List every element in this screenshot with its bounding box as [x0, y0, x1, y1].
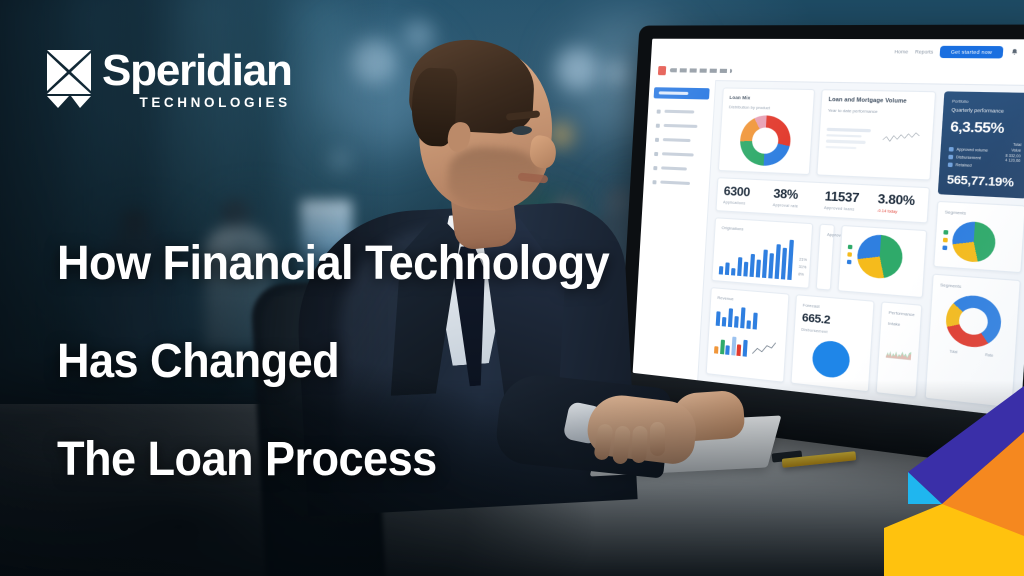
- revenue-trend-line: [751, 339, 775, 360]
- donut-note-1: Total: [949, 349, 957, 354]
- kpi-value: 38%: [773, 187, 814, 202]
- sidebar-item-label: [663, 138, 691, 142]
- sidebar-item-reports[interactable]: [649, 163, 705, 175]
- kpi-delta: -0.14 today: [877, 209, 921, 216]
- portfolio-subtitle: Quarterly performance: [951, 107, 1023, 114]
- list-icon: [656, 123, 660, 127]
- list-icon: [653, 166, 657, 170]
- segments-pie-card: [838, 225, 928, 298]
- donut-note-2: Rate: [985, 353, 993, 358]
- portfolio-summary-panel: Portfolio Quarterly performance 6,3.55% …: [938, 91, 1024, 198]
- sidebar-item-settings[interactable]: [648, 177, 704, 189]
- loan-volume-title: Loan and Mortgage Volume: [828, 97, 927, 106]
- performance-area-chart: [884, 328, 912, 380]
- topbar-link-reports[interactable]: Reports: [915, 48, 934, 54]
- kpi-label: Approved loans: [824, 206, 866, 213]
- loan-volume-ticks: [826, 128, 878, 150]
- kpi-value: 11537: [824, 190, 867, 205]
- loan-mix-title: Loan Mix: [729, 95, 807, 102]
- dashboard-body: Loan Mix Distribution by product Loan an…: [633, 79, 1024, 417]
- headline-line-2: Has Changed: [57, 338, 609, 387]
- sidebar-item-label: [660, 181, 690, 186]
- legend-item: 31%: [799, 265, 807, 270]
- originations-title: Originations: [721, 225, 805, 236]
- segments-right-pie: [951, 221, 997, 264]
- corner-geometric-graphic: [884, 386, 1024, 576]
- dashboard-main-column: Loan Mix Distribution by product Loan an…: [698, 80, 945, 406]
- segments-donut-title: Segments: [940, 282, 1012, 293]
- kpi-default-rate: 3.80% -0.14 today: [877, 192, 922, 215]
- forecast-pie-chart: [811, 339, 850, 379]
- speridian-wordmark: Speridian TECHNOLOGIES: [102, 49, 292, 110]
- kpi-label: Approval rate: [773, 203, 814, 209]
- legend-item: 8%: [798, 272, 806, 277]
- approvals-line-chart: [824, 242, 826, 278]
- segments-pie-chart: [856, 234, 904, 280]
- loan-mix-card: Loan Mix Distribution by product: [718, 87, 815, 175]
- performance-title: Performance: [888, 310, 913, 318]
- loan-volume-subtitle: Year to date performance: [828, 107, 927, 115]
- loan-mix-subtitle: Distribution by product: [729, 104, 807, 111]
- headline-line-1: How Financial Technology: [57, 240, 609, 289]
- list-icon: [655, 137, 659, 141]
- finger: [631, 426, 648, 464]
- kpi-applications: 6300 Applications: [723, 185, 763, 207]
- loan-volume-card: Loan and Mortgage Volume Year to date pe…: [816, 89, 936, 180]
- portfolio-eyebrow: Portfolio: [952, 99, 1024, 105]
- brand-tagline: TECHNOLOGIES: [139, 96, 290, 110]
- sidebar-item-label: [662, 152, 694, 156]
- originations-legend: 21% 31% 8%: [798, 257, 807, 281]
- legend-label: Retained: [955, 163, 971, 168]
- speridian-logo[interactable]: Speridian TECHNOLOGIES: [44, 48, 292, 110]
- sidebar-item-portfolio[interactable]: [651, 135, 707, 146]
- sidebar-item-label: [664, 124, 698, 128]
- kpi-label: Applications: [723, 200, 762, 206]
- legend-label: Disbursement: [956, 155, 981, 160]
- segments-donut-chart: [944, 294, 1002, 350]
- get-started-button[interactable]: Get started now: [940, 45, 1004, 58]
- legend-label: Approved volume: [956, 147, 988, 153]
- list-icon: [652, 180, 656, 184]
- originations-bar-chart: [719, 235, 794, 280]
- brand-name: Speridian: [102, 49, 292, 93]
- sidebar-item-label: [661, 166, 687, 170]
- topbar-link-home[interactable]: Home: [894, 48, 908, 54]
- kpi-value: 6300: [723, 185, 763, 199]
- segments-right-card: Segments: [933, 201, 1024, 273]
- loan-volume-area-chart: [924, 121, 926, 152]
- legend-item: 21%: [799, 257, 807, 262]
- sidebar-item-dashboard[interactable]: [654, 87, 710, 99]
- headline-line-3: The Loan Process: [57, 436, 609, 485]
- list-icon: [657, 109, 661, 113]
- portfolio-legend: Approved volume Disbursement Retained: [948, 147, 988, 169]
- forecast-title: Forecast: [803, 302, 867, 313]
- page-title: How Financial Technology Has Changed The…: [57, 191, 609, 534]
- bell-icon[interactable]: [1010, 48, 1019, 56]
- portfolio-secondary-value: 565,77.19%: [946, 174, 1019, 191]
- revenue-secondary-bars: [714, 331, 748, 357]
- dashboard-brand-label: [670, 68, 732, 73]
- segments-right-title: Segments: [945, 209, 1017, 219]
- revenue-bar-chart: [716, 305, 781, 332]
- sidebar-item-overview[interactable]: [653, 106, 709, 117]
- kpi-strip: 6300 Applications 38% Approval rate 1153…: [715, 177, 930, 223]
- sidebar-item-analytics[interactable]: [650, 149, 706, 160]
- sidebar-item-label: [664, 110, 694, 114]
- performance-subtitle: Intake: [888, 320, 913, 328]
- portfolio-main-value: 6,3.55%: [950, 118, 1023, 137]
- approvals-sparkline: [882, 124, 920, 151]
- revenue-title: Revenue: [717, 295, 781, 306]
- loan-mix-donut-chart: [739, 115, 792, 167]
- speridian-hourglass-mark: [44, 48, 94, 110]
- performance-card: Performance Intake: [876, 301, 923, 397]
- finger: [650, 422, 665, 456]
- hero-banner: Home Reports Get started now: [0, 0, 1024, 576]
- dashboard-logo-icon: [658, 66, 666, 75]
- kpi-value: 3.80%: [877, 192, 921, 207]
- sidebar-item-applications[interactable]: [652, 121, 708, 132]
- monitor-screen: Home Reports Get started now: [633, 39, 1024, 418]
- forecast-card: Forecast 665.2 Disbursement: [790, 294, 874, 392]
- revenue-card: Revenue: [706, 287, 790, 383]
- kpi-approved-loans: 11537 Approved loans: [824, 190, 867, 213]
- segments-right-legend: [942, 230, 948, 250]
- portfolio-note-4: 4 120,66: [1005, 158, 1021, 164]
- approvals-card: Approvals: [816, 224, 835, 291]
- originations-card: Originations 21%: [711, 217, 813, 289]
- list-icon: [654, 151, 658, 155]
- loan-analytics-dashboard: Home Reports Get started now: [633, 39, 1024, 418]
- segments-pie-legend: [847, 245, 853, 265]
- kpi-approval-rate: 38% Approval rate: [773, 187, 815, 209]
